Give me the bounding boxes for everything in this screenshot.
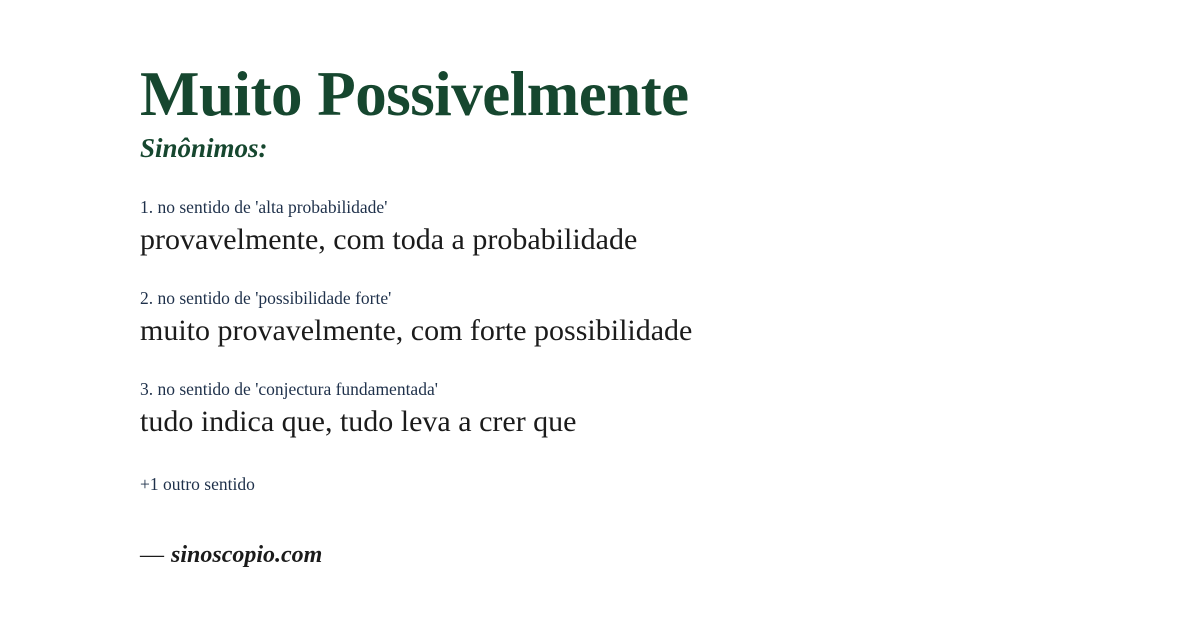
synonym-card: Muito Possivelmente Sinônimos: 1. no sen…: [0, 0, 1200, 628]
em-dash-icon: —: [140, 542, 171, 568]
sense-item: 3. no sentido de 'conjectura fundamentad…: [140, 379, 1140, 441]
sense-synonyms: provavelmente, com toda a probabilidade: [140, 221, 1140, 259]
sense-synonyms: tudo indica que, tudo leva a crer que: [140, 403, 1140, 441]
more-senses-note: +1 outro sentido: [140, 442, 1140, 496]
sense-label: 2. no sentido de 'possibilidade forte': [140, 288, 1140, 310]
page-title: Muito Possivelmente: [140, 0, 1140, 126]
sense-item: 2. no sentido de 'possibilidade forte' m…: [140, 288, 1140, 350]
attribution-source: sinoscopio.com: [171, 542, 322, 568]
sense-list: 1. no sentido de 'alta probabilidade' pr…: [140, 197, 1140, 442]
synonyms-heading: Sinônimos:: [140, 126, 1140, 164]
sense-label: 3. no sentido de 'conjectura fundamentad…: [140, 379, 1140, 401]
sense-item: 1. no sentido de 'alta probabilidade' pr…: [140, 197, 1140, 259]
attribution: —sinoscopio.com: [140, 496, 1140, 570]
sense-synonyms: muito provavelmente, com forte possibili…: [140, 312, 1140, 350]
sense-label: 1. no sentido de 'alta probabilidade': [140, 197, 1140, 219]
